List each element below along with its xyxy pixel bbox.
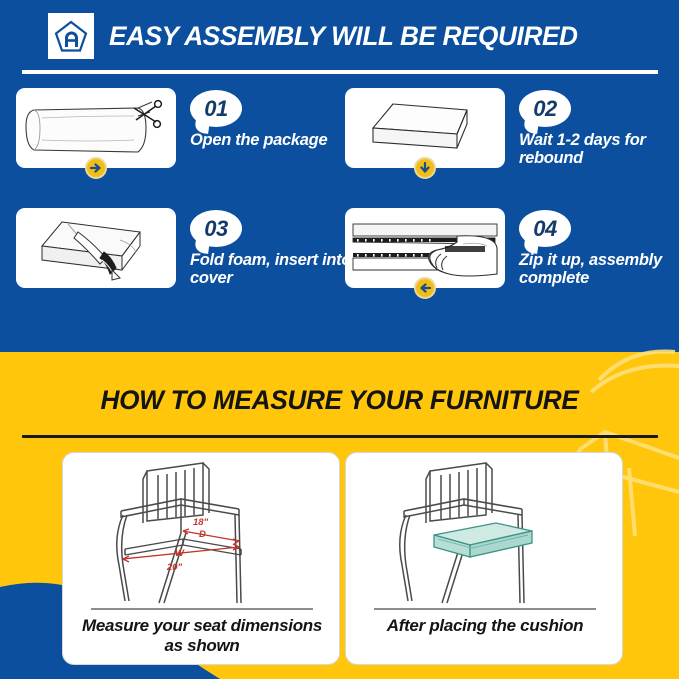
step-number-bubble: 04 [519, 210, 571, 247]
step-number-bubble: 02 [519, 90, 571, 127]
step-label: Zip it up, assembly complete [519, 251, 679, 288]
arrow-right-icon [85, 157, 107, 179]
arrow-left-icon [414, 277, 436, 299]
measure-divider [22, 435, 658, 438]
step-illustration-fold-foam [16, 208, 176, 288]
chair-with-dimension-labels: 18" D W 20" [63, 453, 340, 608]
measure-card-caption: After placing the cushion [346, 616, 623, 636]
header-title: EASY ASSEMBLY WILL BE REQUIRED [109, 21, 578, 52]
dimension-depth-letter: D [199, 529, 206, 540]
header-divider [22, 70, 658, 74]
step-item: 04 Zip it up, assembly complete [345, 208, 679, 288]
step-illustration-zipper [345, 208, 505, 288]
home-pentagon-icon [48, 13, 94, 59]
dimension-depth-value: 18" [193, 517, 209, 528]
measure-card-caption: Measure your seat dimensions as shown [63, 616, 340, 656]
step-number-bubble: 01 [190, 90, 242, 127]
step-label: Wait 1-2 days for rebound [519, 131, 679, 168]
chair-with-seat-cushion [346, 453, 623, 608]
step-item: 01 Open the package [16, 88, 360, 168]
measure-section: HOW TO MEASURE YOUR FURNITURE [0, 300, 679, 679]
step-label: Open the package [190, 131, 360, 149]
dimension-width-value: 20" [166, 562, 183, 573]
step-illustration-foam [345, 88, 505, 168]
step-number: 03 [204, 216, 227, 242]
card-divider [374, 608, 596, 610]
step-label: Fold foam, insert into cover [190, 251, 360, 288]
step-number-bubble: 03 [190, 210, 242, 247]
step-item: 03 Fold foam, insert into cover [16, 208, 360, 288]
step-illustration-package [16, 88, 176, 168]
measure-card-dimensions: 18" D W 20" Measure your seat dimensions… [62, 452, 340, 665]
header: EASY ASSEMBLY WILL BE REQUIRED [0, 8, 679, 64]
step-item: 02 Wait 1-2 days for rebound [345, 88, 679, 168]
step-number: 02 [533, 96, 556, 122]
card-divider [91, 608, 313, 610]
arrow-down-icon [414, 157, 436, 179]
step-number: 04 [533, 216, 556, 242]
step-number: 01 [204, 96, 227, 122]
measure-card-cushion: After placing the cushion [345, 452, 623, 665]
dimension-width-letter: W [175, 548, 185, 559]
measure-title: HOW TO MEASURE YOUR FURNITURE [10, 385, 669, 416]
